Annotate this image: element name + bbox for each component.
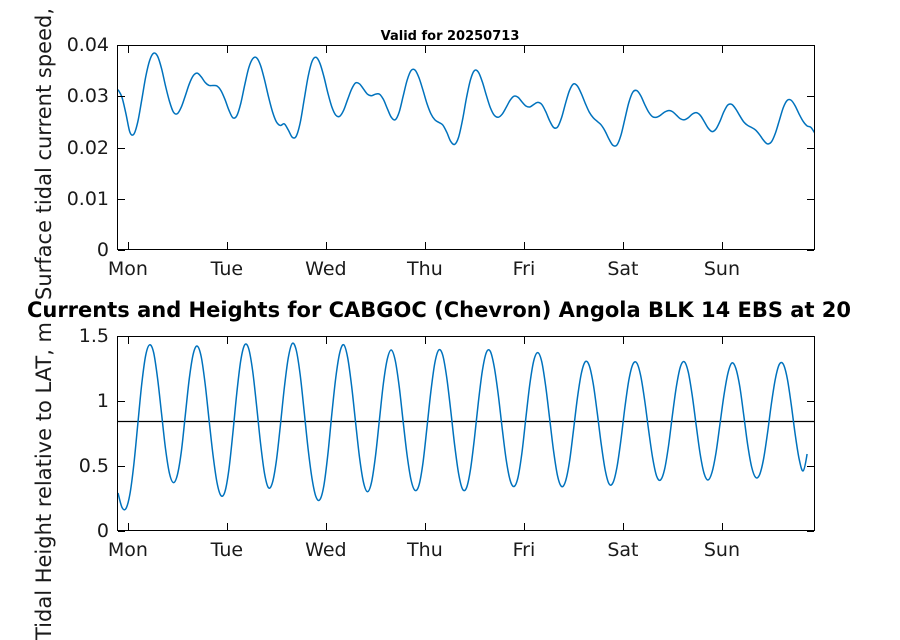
x-tick-sat — [623, 242, 624, 249]
y-tick-0 — [118, 250, 125, 251]
y-tick-label-0.04: 0.04 — [67, 34, 109, 56]
y-tick-0.04 — [118, 45, 125, 46]
y-tick-0.02 — [807, 148, 814, 149]
figure-canvas: Valid for 20250713 00.010.020.030.04 Mon… — [0, 0, 900, 600]
x-tick-label-tue: Tue — [211, 539, 243, 561]
x-tick-sat — [623, 337, 624, 344]
x-tick-wed — [326, 46, 327, 53]
y-tick-0 — [807, 250, 814, 251]
x-tick-mon — [128, 242, 129, 249]
panel-surface-current-speed: Valid for 20250713 00.010.020.030.04 Mon… — [0, 0, 900, 290]
y-tick-1 — [118, 401, 125, 402]
x-tick-wed — [326, 337, 327, 344]
y-tick-0.02 — [118, 148, 125, 149]
y-tick-label-0.5: 0.5 — [79, 455, 109, 477]
x-tick-label-sat: Sat — [607, 539, 638, 561]
panel-subtitle: Valid for 20250713 — [0, 29, 900, 44]
data-line-tidal-height-relative-to-lat — [118, 343, 807, 510]
y-tick-0 — [118, 531, 125, 532]
y-tick-0.01 — [807, 199, 814, 200]
x-tick-label-wed: Wed — [305, 539, 346, 561]
x-tick-fri — [524, 242, 525, 249]
current-speed-line-chart — [118, 46, 815, 250]
x-tick-sat — [623, 46, 624, 53]
x-tick-label-wed: Wed — [305, 258, 346, 280]
y-tick-label-0.03: 0.03 — [67, 85, 109, 107]
x-tick-mon — [128, 337, 129, 344]
y-tick-label-1.5: 1.5 — [79, 325, 109, 347]
x-tick-fri — [524, 337, 525, 344]
x-tick-tue — [227, 242, 228, 249]
x-tick-wed — [326, 523, 327, 530]
x-tick-fri — [524, 46, 525, 53]
x-tick-label-mon: Mon — [108, 539, 148, 561]
y-tick-0.03 — [807, 96, 814, 97]
y-tick-0.5 — [118, 466, 125, 467]
x-tick-label-sat: Sat — [607, 258, 638, 280]
x-tick-sun — [722, 337, 723, 344]
x-tick-sun — [722, 46, 723, 53]
y-tick-label-0.02: 0.02 — [67, 137, 109, 159]
y-tick-1.5 — [118, 336, 125, 337]
x-tick-label-tue: Tue — [211, 258, 243, 280]
data-line-surface-tidal-current-speed — [118, 53, 815, 146]
x-tick-mon — [128, 46, 129, 53]
x-tick-mon — [128, 523, 129, 530]
y-tick-0.01 — [118, 199, 125, 200]
y-tick-0.03 — [118, 96, 125, 97]
x-tick-fri — [524, 523, 525, 530]
x-tick-label-thu: Thu — [407, 258, 443, 280]
x-tick-label-fri: Fri — [513, 539, 536, 561]
x-tick-sat — [623, 523, 624, 530]
x-tick-thu — [425, 46, 426, 53]
y-tick-1.5 — [807, 336, 814, 337]
x-tick-thu — [425, 337, 426, 344]
x-tick-tue — [227, 46, 228, 53]
panel-tidal-height: 00.511.5 MonTueWedThuFriSatSun — [0, 300, 900, 600]
x-tick-tue — [227, 523, 228, 530]
y-tick-0 — [807, 531, 814, 532]
y-tick-0.04 — [807, 45, 814, 46]
plot-area-current-speed[interactable] — [117, 45, 815, 250]
x-tick-wed — [326, 242, 327, 249]
x-tick-sun — [722, 242, 723, 249]
x-tick-label-sun: Sun — [704, 258, 740, 280]
x-tick-thu — [425, 242, 426, 249]
x-tick-label-sun: Sun — [704, 539, 740, 561]
y-tick-0.5 — [807, 466, 814, 467]
y-axis-title-top: Surface tidal current speed, kn — [32, 0, 56, 300]
x-tick-label-thu: Thu — [407, 539, 443, 561]
x-tick-tue — [227, 337, 228, 344]
plot-area-tidal-height[interactable] — [117, 336, 815, 531]
y-tick-label-0.01: 0.01 — [67, 188, 109, 210]
x-tick-label-fri: Fri — [513, 258, 536, 280]
x-tick-sun — [722, 523, 723, 530]
y-axis-title-bottom: Tidal Height relative to LAT, m — [32, 322, 56, 640]
tidal-height-line-chart — [118, 337, 815, 531]
y-tick-1 — [807, 401, 814, 402]
x-tick-thu — [425, 523, 426, 530]
x-tick-label-mon: Mon — [108, 258, 148, 280]
y-tick-label-1: 1 — [97, 390, 109, 412]
